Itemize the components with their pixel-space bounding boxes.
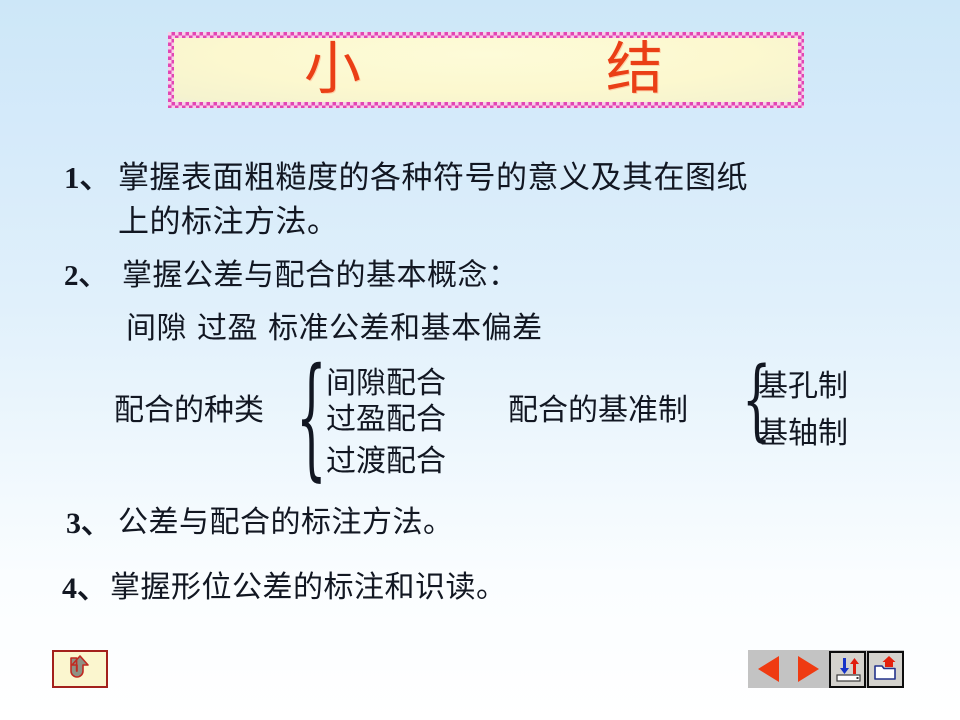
- title-inner-panel: 小 结: [174, 38, 798, 102]
- open-folder-icon: [872, 655, 900, 683]
- list-item-3-number: 3、: [66, 498, 111, 542]
- group-right-option-1: 基孔制: [758, 361, 848, 405]
- triangle-left-icon: [758, 656, 779, 682]
- open-folder-button[interactable]: [867, 651, 904, 688]
- list-item-2-line1: 掌握公差与配合的基本概念：: [122, 250, 519, 294]
- list-item-4-number: 4、: [62, 563, 107, 607]
- page-title-char-1: 小: [304, 39, 361, 99]
- sort-updown-icon: [834, 655, 862, 683]
- list-item-1-number: 1、: [64, 152, 111, 197]
- group-left-option-2: 过盈配合: [326, 394, 446, 438]
- return-button[interactable]: [52, 650, 108, 688]
- sort-updown-button[interactable]: [829, 651, 866, 688]
- triangle-right-icon: [798, 656, 819, 682]
- group-left-option-3: 过渡配合: [326, 436, 446, 480]
- previous-slide-button[interactable]: [748, 650, 788, 688]
- return-arrow-icon: [63, 655, 97, 683]
- slide-navigation-bar: [748, 650, 904, 688]
- list-item-1-line2: 上的标注方法。: [118, 196, 339, 241]
- title-box: 小 结: [168, 32, 804, 108]
- left-curly-brace-icon: {: [296, 352, 327, 484]
- list-item-2-line2: 间隙 过盈 标准公差和基本偏差: [126, 303, 543, 347]
- page-title-char-2: 结: [606, 39, 663, 99]
- list-item-4-line1: 掌握形位公差的标注和识读。: [110, 562, 507, 606]
- list-item-2-number: 2、: [64, 252, 108, 294]
- slide-canvas: 小 结 1、 掌握表面粗糙度的各种符号的意义及其在图纸 上的标注方法。 2、 掌…: [0, 0, 960, 720]
- group-left-label: 配合的种类: [114, 385, 264, 429]
- next-slide-button[interactable]: [788, 650, 828, 688]
- list-item-1-line1: 掌握表面粗糙度的各种符号的意义及其在图纸: [118, 152, 748, 197]
- group-right-label: 配合的基准制: [508, 385, 688, 429]
- list-item-3-line1: 公差与配合的标注方法。: [118, 497, 454, 541]
- group-right-option-2: 基轴制: [758, 408, 848, 452]
